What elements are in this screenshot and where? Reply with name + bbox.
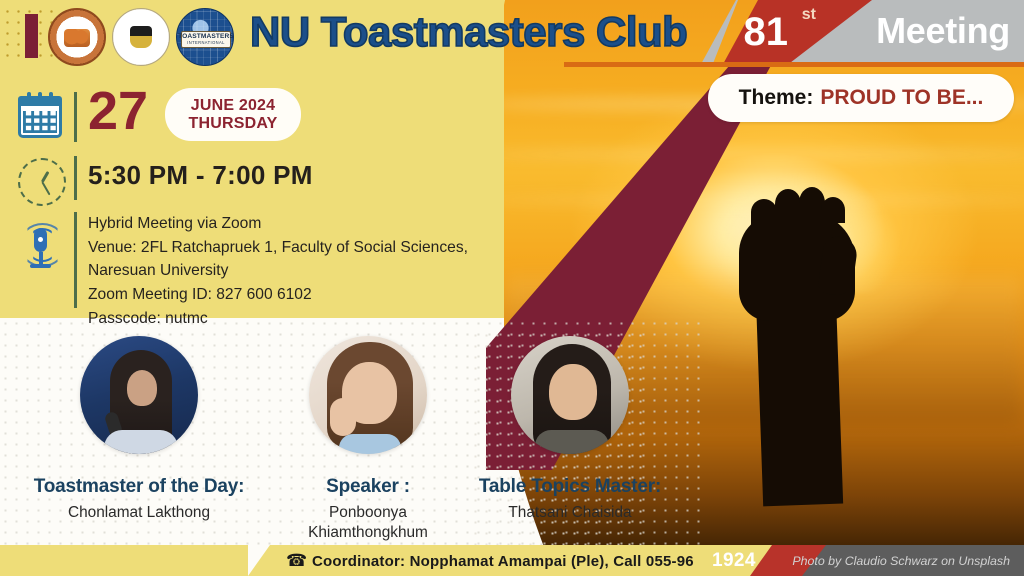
meeting-time-range: 5:30 PM - 7:00 PM <box>88 160 313 191</box>
logo-group: TOASTMASTERS INTERNATIONAL <box>48 8 234 66</box>
date-day-number: 27 <box>88 84 148 138</box>
venue-line-address-1: Venue: 2FL Ratchapruek 1, Faculty of Soc… <box>88 236 488 260</box>
venue-line-meeting-mode: Hybrid Meeting via Zoom <box>88 212 488 236</box>
divider <box>74 92 77 142</box>
poster-canvas: TOASTMASTERS INTERNATIONAL NU Toastmaste… <box>0 0 1024 576</box>
header-underline <box>564 62 1024 67</box>
speaker-name: Thatsani Chaisida <box>450 503 690 523</box>
avatar <box>511 336 629 454</box>
photo-credit: Photo by Claudio Schwarz on Unsplash <box>792 554 1010 568</box>
header-accent-bar <box>25 14 38 58</box>
theme-badge: Theme: PROUD TO BE... <box>708 74 1014 122</box>
naresuan-university-seal-icon <box>48 8 106 66</box>
microphone-icon <box>18 222 62 274</box>
speaker-card-speaker: Speaker : Ponboonya Khiamthongkhum <box>268 336 468 543</box>
meeting-label: Meeting <box>876 10 1010 52</box>
date-badge: JUNE 2024 THURSDAY <box>165 88 301 141</box>
meeting-number-ordinal: st <box>802 6 816 24</box>
toastmasters-subwordmark: INTERNATIONAL <box>187 41 225 45</box>
speaker-card-table-topics-master: Table Topics Master: Thatsani Chaisida <box>450 336 690 523</box>
faculty-of-social-sciences-seal-icon <box>112 8 170 66</box>
speaker-role: Speaker : <box>268 476 468 498</box>
theme-value: PROUD TO BE... <box>820 86 983 110</box>
avatar <box>80 336 198 454</box>
venue-line-passcode: Passcode: nutmc <box>88 307 488 331</box>
raised-fist-silhouette <box>733 173 861 503</box>
coordinator-contact: Coordinator: Nopphamat Amampai (Ple), Ca… <box>312 553 694 570</box>
avatar <box>309 336 427 454</box>
date-weekday: THURSDAY <box>188 115 277 133</box>
venue-details: Hybrid Meeting via Zoom Venue: 2FL Ratch… <box>88 212 488 330</box>
speaker-role: Table Topics Master: <box>450 476 690 498</box>
divider <box>74 212 77 308</box>
page-title: NU Toastmasters Club <box>250 8 687 56</box>
theme-label: Theme: <box>739 86 814 110</box>
meeting-number: 81 <box>744 12 789 52</box>
speaker-name: Ponboonya Khiamthongkhum <box>268 503 468 543</box>
speaker-name: Chonlamat Lakthong <box>14 503 264 523</box>
calendar-icon <box>18 96 62 138</box>
founding-year: 1924 <box>712 550 756 572</box>
date-month-year: JUNE 2024 <box>191 97 276 115</box>
divider <box>74 156 77 200</box>
cloud-band <box>504 150 1024 159</box>
speaker-role: Toastmaster of the Day: <box>14 476 264 498</box>
telephone-icon: ☎ <box>286 551 308 571</box>
venue-line-address-2: Naresuan University <box>88 259 488 283</box>
venue-line-zoom-id: Zoom Meeting ID: 827 600 6102 <box>88 283 488 307</box>
clock-icon <box>18 158 66 206</box>
toastmasters-international-logo-icon: TOASTMASTERS INTERNATIONAL <box>176 8 234 66</box>
speaker-card-toastmaster: Toastmaster of the Day: Chonlamat Laktho… <box>14 336 264 523</box>
